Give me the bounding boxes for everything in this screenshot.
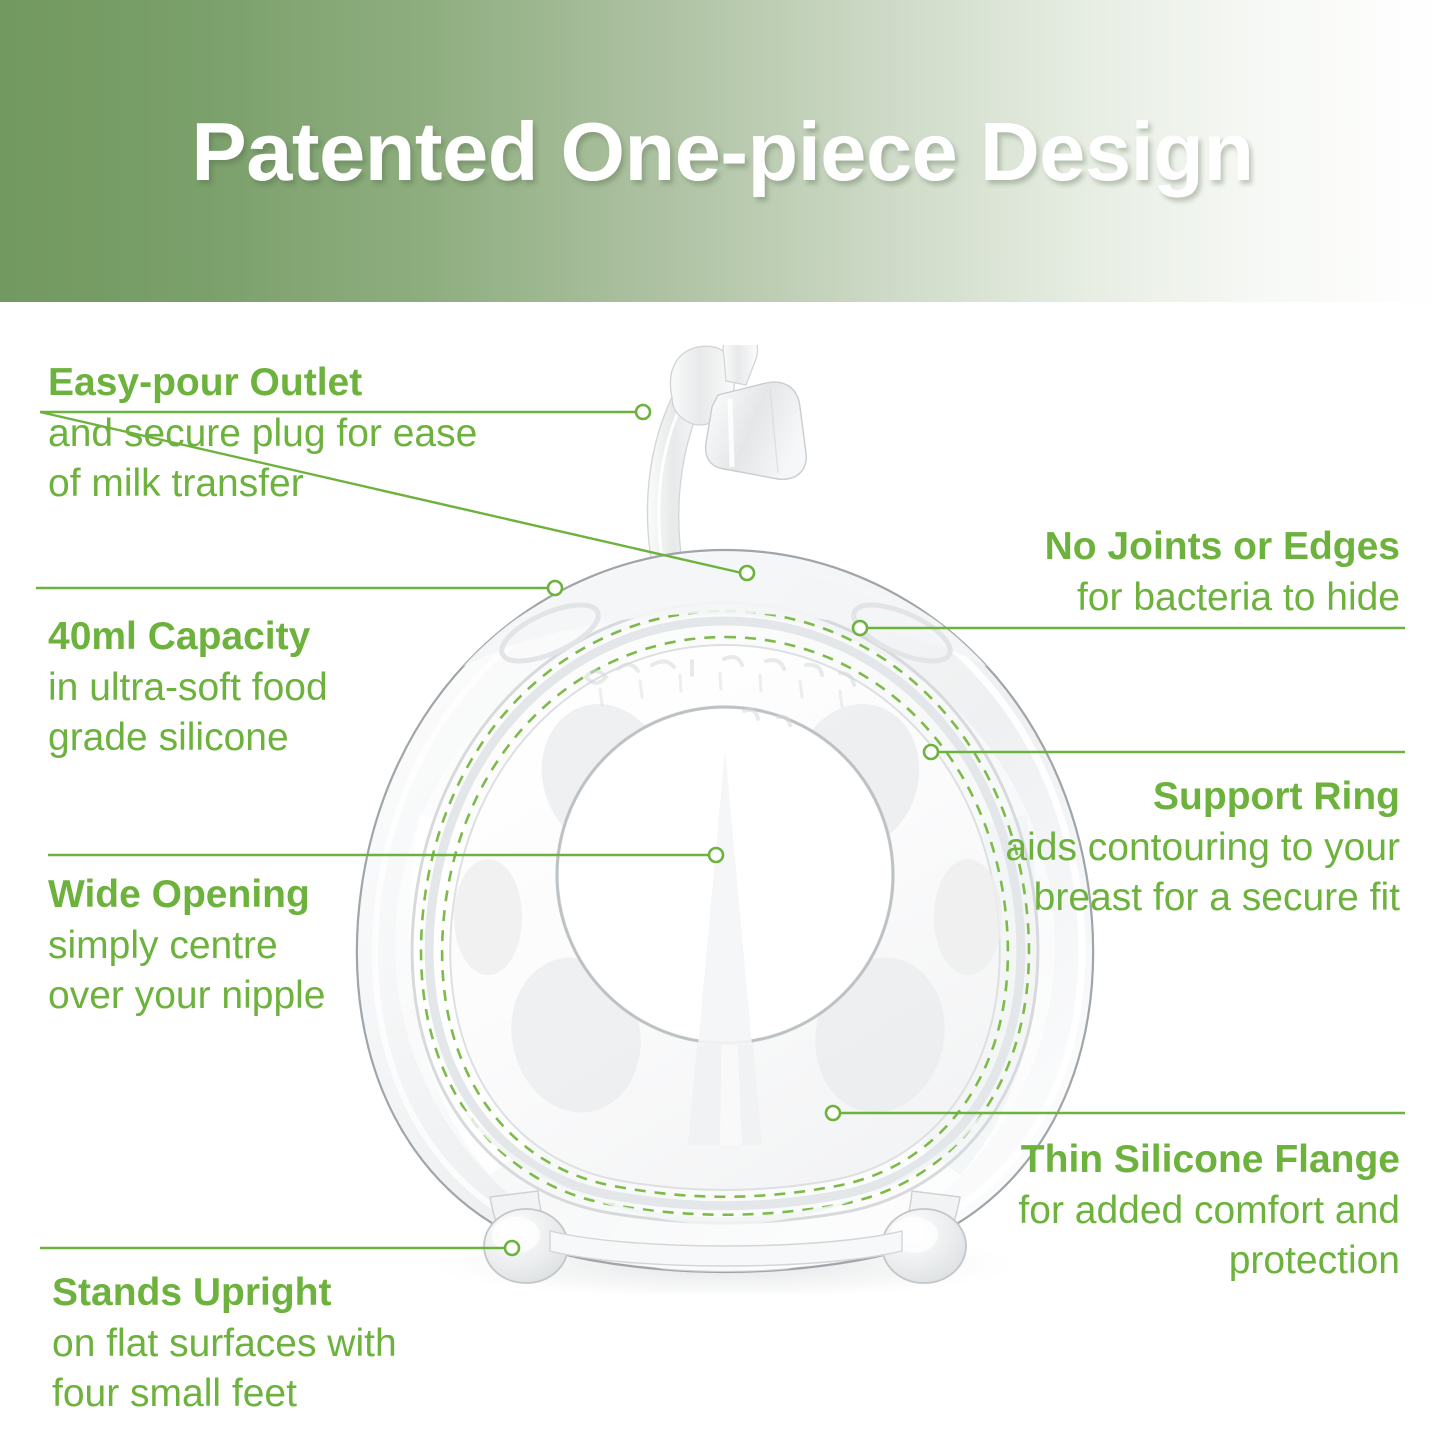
- callout-heading: Stands Upright: [52, 1271, 332, 1314]
- callout-body: for added comfort and protection: [1018, 1189, 1400, 1283]
- callout-thin-silicone-flange: Thin Silicone Flange for added comfort a…: [985, 1135, 1400, 1287]
- callout-body: simply centre over your nipple: [48, 921, 328, 1022]
- callout-heading: Easy-pour Outlet: [48, 361, 362, 404]
- spout-nub: [723, 345, 757, 385]
- callout-capacity: 40ml Capacity in ultra-soft food grade s…: [48, 612, 388, 764]
- callout-wide-opening: Wide Opening simply centre over your nip…: [48, 870, 328, 1022]
- callout-body: for bacteria to hide: [905, 573, 1400, 624]
- callout-heading: 40ml Capacity: [48, 615, 310, 658]
- callout-easy-pour-outlet: Easy-pour Outlet and secure plug for eas…: [48, 358, 478, 510]
- callout-heading: No Joints or Edges: [1045, 525, 1400, 568]
- callout-heading: Support Ring: [1153, 775, 1400, 818]
- callout-body: on flat surfaces with four small feet: [52, 1319, 452, 1420]
- callout-no-joints-or-edges: No Joints or Edges for bacteria to hide: [905, 522, 1400, 623]
- callout-stands-upright: Stands Upright on flat surfaces with fou…: [52, 1268, 452, 1420]
- callout-heading: Thin Silicone Flange: [1021, 1138, 1400, 1181]
- callout-support-ring: Support Ring aids contouring to your bre…: [985, 772, 1400, 924]
- page-title: Patented One-piece Design: [0, 104, 1445, 200]
- callout-body: aids contouring to your breast for a sec…: [985, 823, 1400, 924]
- inner-pad: [454, 859, 522, 975]
- callout-body: in ultra-soft food grade silicone: [48, 663, 388, 764]
- callout-body: and secure plug for ease of milk transfe…: [48, 409, 478, 510]
- header-banner: Patented One-piece Design: [0, 0, 1445, 302]
- outlet-plug: [706, 382, 807, 479]
- callout-heading: Wide Opening: [48, 873, 310, 916]
- infographic-canvas: Patented One-piece Design: [0, 0, 1445, 1445]
